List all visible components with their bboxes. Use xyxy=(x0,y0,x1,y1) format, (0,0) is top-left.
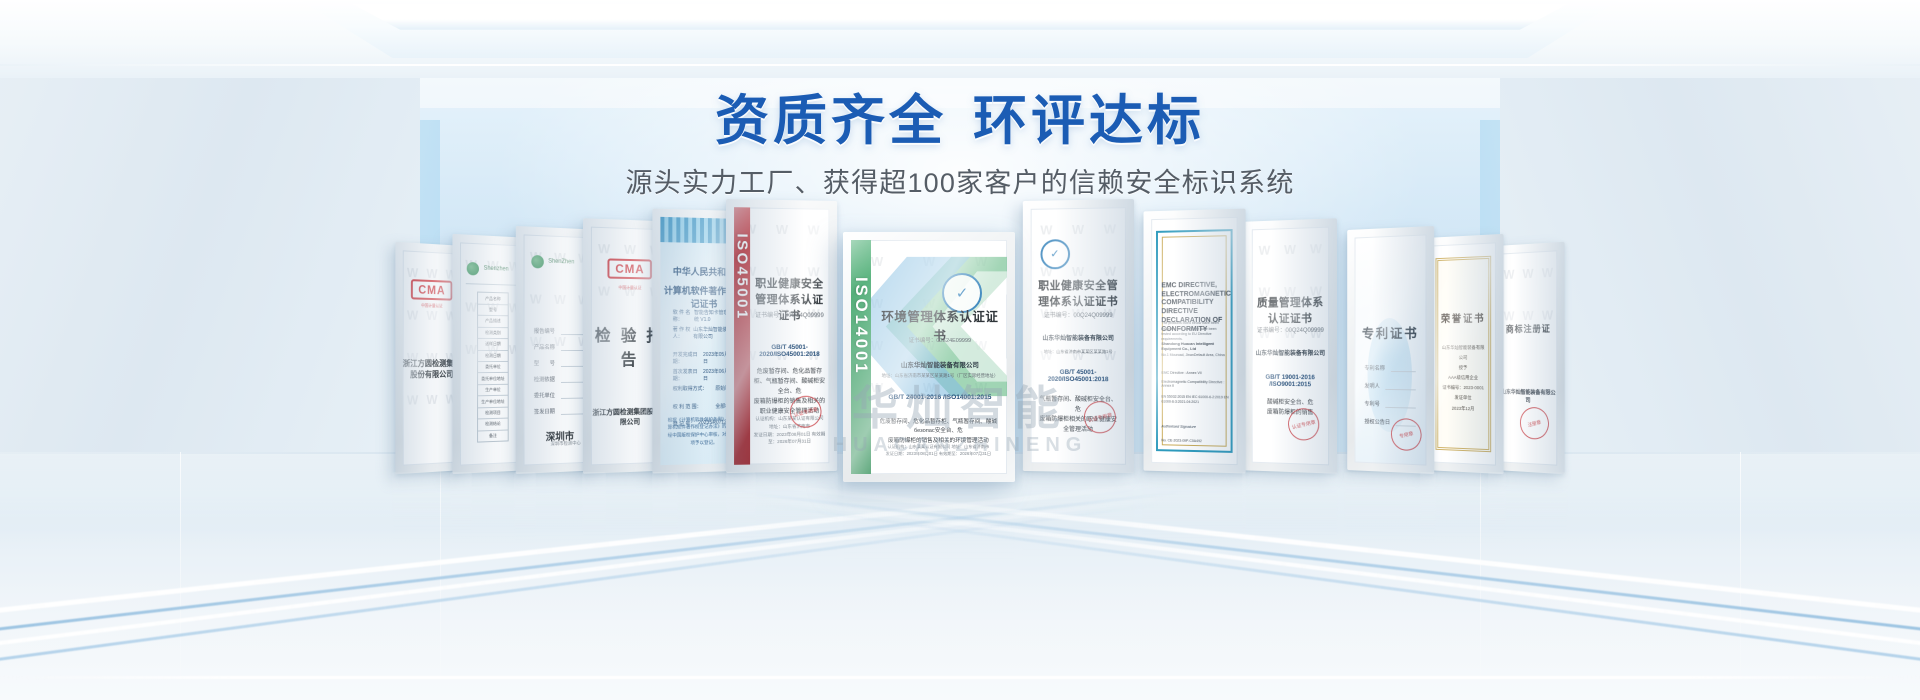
table-row: 产品名称 xyxy=(478,293,507,305)
ce-body-line-1: The products listed below have been insp… xyxy=(1161,321,1218,331)
field-label: 软 件 名 称： xyxy=(673,309,694,323)
honor-line-3: AAA级信用企业 xyxy=(1448,375,1478,380)
certificate-paper: WWWWWW 商标注册证 山东华灿智能装备有限公司 注册章 xyxy=(1500,250,1558,465)
certificate-title: 职业健康安全管理体系认证证书 xyxy=(1036,277,1120,309)
field-value xyxy=(561,375,586,383)
field-label: 型 号 xyxy=(534,359,555,367)
certificate-reflection xyxy=(1142,472,1246,566)
field-label: 专利号 xyxy=(1364,400,1379,408)
table-row: 型号 xyxy=(478,305,507,317)
field-label: 权 利 范 围： xyxy=(673,403,702,410)
ce-directive-1: EMC Directive : Annex VII xyxy=(1161,370,1228,374)
certificate-reflection xyxy=(726,472,838,570)
field-value xyxy=(561,406,586,415)
iso-standard-label: ISO45001 xyxy=(734,233,751,320)
certificate-frame[interactable]: WWWWWWWWWWWW ✓ ISO14001 环境管理体系认证证书 证书编号：… xyxy=(843,232,1015,482)
certificate-paper: WWWWWWWWWWWW ✓ 职业健康安全管理体系认证证书 证书编号：00Q24… xyxy=(1031,207,1126,465)
ce-signature: Authorised Signature xyxy=(1161,424,1196,429)
field-row: 发明人 xyxy=(1364,382,1416,391)
certificate-paper: WWWWWWWWWWWW ✓ ISO14001 环境管理体系认证证书 证书编号：… xyxy=(851,240,1007,474)
field-label: 首次发表日期： xyxy=(673,368,703,382)
certificate-frame[interactable]: EMC DIRECTIVE, ELECTROMAGNETIC COMPATIBI… xyxy=(1144,209,1246,474)
org-logo-icon xyxy=(467,262,479,276)
scope-line-1: 危废暂存间、危化品暂存柜、气瓶暂存间、酸碱柜安全台、危 xyxy=(754,369,825,396)
table-row: 送样日期 xyxy=(478,339,507,351)
footer-line-2: 发证日期：2023年08月01日 有效期至：2026年07月31日 xyxy=(886,451,991,456)
certificate-reflection xyxy=(1022,472,1134,570)
table-row: 检测日期 xyxy=(478,351,507,363)
field-row: 签发日期 xyxy=(534,406,586,415)
certificate-frame[interactable]: WWWWWWWWW 质量管理体系认证证书 证书编号：00Q24Q09999 山东… xyxy=(1244,218,1337,474)
certificate-address: 地址：山东省济南市某某区某某路1号 xyxy=(1036,349,1120,355)
honor-line-5: 发证单位 xyxy=(1454,395,1471,400)
certificate-side-band: ISO45001 xyxy=(734,207,750,465)
certification-seal-icon: ✓ xyxy=(1040,239,1070,269)
certificate-title: 荣誉证书 xyxy=(1431,309,1496,325)
certificate-paper: 荣誉证书 山东华灿智能装备有限公司 授予 AAA级信用企业 证书编号：2023-… xyxy=(1431,242,1496,465)
page-subtitle: 源头实力工厂、获得超100家客户的信赖安全标识系统 xyxy=(0,148,1920,197)
certificate-number: 证书编号：00E24E09999 xyxy=(879,336,1001,344)
honor-line-1: 山东华灿智能装备有限公司 xyxy=(1442,345,1485,360)
cma-badge: CMA xyxy=(607,258,652,279)
certificate-address: 地址：山东省济南市某某区某某路1号（厂区实际经营地址） xyxy=(879,373,1001,379)
certificate-frame[interactable]: WWWWWWWWWWWW ISO45001 职业健康安全管理体系认证证书 证书编… xyxy=(726,199,837,473)
field-label: 委托单位 xyxy=(534,391,555,399)
ce-directive-2: Electromagnetic Compatibility Directive … xyxy=(1161,380,1228,389)
certificate-frame[interactable]: WWWWWWWWWWWW ✓ 职业健康安全管理体系认证证书 证书编号：00Q24… xyxy=(1023,199,1134,473)
certificate-frame[interactable]: 专利证书 专利名称 发明人 专利号 授权公告日 专用章 xyxy=(1347,226,1434,474)
ce-standards: EN 55032:2015 EN IEC 61000-6-2:2019 EN 6… xyxy=(1161,395,1228,406)
inspection-table: 产品名称 型号 产品描述 检测类别 送样日期 检测日期 委托单位 委托单位地址 … xyxy=(477,292,508,443)
field-row: 产品名称 xyxy=(534,343,586,351)
field-label: 产品名称 xyxy=(534,343,555,351)
document-header: ShenZhen xyxy=(531,251,589,273)
ce-applicant: Shandong Huacan Intelligent Equipment Co… xyxy=(1161,341,1228,351)
field-row: 专利名称 xyxy=(1364,364,1416,372)
table-row: 检测项目 xyxy=(478,407,507,419)
footer-line-1: 认证机构：山东某某认证有限公司 地址：山东省济南市 xyxy=(888,444,990,449)
certificate-number: 证书编号：00Q24Q09999 xyxy=(1256,325,1324,334)
certificate-number: 证书编号：00Q24Q09999 xyxy=(753,310,825,319)
field-row: 型 号 xyxy=(534,359,586,367)
field-value xyxy=(561,327,586,335)
ce-address: No.1 Mouroad, JinanDefault Area, China xyxy=(1161,353,1228,357)
certificate-title: 质量管理体系认证证书 xyxy=(1256,294,1324,327)
scope-line-1: 酸碱柜安全台、危 xyxy=(1267,400,1313,407)
field-value xyxy=(561,391,586,399)
field-label: 报告编号 xyxy=(534,327,555,335)
table-row: 生产单位 xyxy=(478,385,507,397)
certificate-standard: GB/T 24001-2016 /ISO14001:2015 xyxy=(879,394,1001,401)
document-header: Shenzhen xyxy=(467,258,519,280)
field-label: 开发完成日期： xyxy=(673,351,703,365)
certificate-number: 证书编号：00Q24Q09999 xyxy=(1036,310,1120,319)
field-value xyxy=(561,343,586,351)
divider xyxy=(465,283,520,286)
certificate-reflection xyxy=(1488,472,1568,550)
certificate-paper: WWWWWWWWW 质量管理体系认证证书 证书编号：00Q24Q09999 山东… xyxy=(1252,227,1329,466)
table-row: 产品描述 xyxy=(478,316,507,328)
table-row: 委托单位地址 xyxy=(478,373,507,385)
title-part-1: 资质齐全 xyxy=(715,91,947,151)
field-row: 检测依据 xyxy=(534,375,586,384)
certificate-company: 山东华灿智能装备有限公司 xyxy=(1252,348,1329,357)
field-value xyxy=(1385,382,1416,390)
honor-line-6: 2023年12月 xyxy=(1452,405,1475,411)
title-part-2: 环评达标 xyxy=(973,91,1205,151)
field-label: 专利名称 xyxy=(1364,364,1385,372)
certificate-standard: GB/T 45001-2020/ISO45001:2018 xyxy=(1036,369,1120,383)
certificate-scope: 危废暂存间、危化品暂存柜、气瓶暂存间、酸碱безопас安全台、危 废箱防爆柜的… xyxy=(876,418,1001,447)
footer-line-2: 发证日期：2023年08月01日 有效期至：2026年07月31日 xyxy=(754,431,826,445)
field-label: 授权公告日 xyxy=(1364,418,1390,427)
field-value xyxy=(1385,400,1416,409)
certificate-paper: WWWWWWWWWWWW ISO45001 职业健康安全管理体系认证证书 证书编… xyxy=(734,207,829,465)
certificate-side-band: ISO14001 xyxy=(851,240,871,474)
certificate-standard: GB/T 19001-2016 /ISO9001:2015 xyxy=(1256,374,1324,389)
official-stamp: 注册章 xyxy=(1517,404,1552,442)
org-logo-label: ShenZhen xyxy=(548,259,574,266)
ce-title-line-1: EMC DIRECTIVE, xyxy=(1161,282,1217,290)
org-logo-icon xyxy=(531,255,544,269)
certificate-reflection xyxy=(843,480,1015,572)
honor-line-2: 授予 xyxy=(1459,365,1468,370)
iso-standard-label: ISO14001 xyxy=(851,277,871,375)
field-label: 权利取得方式： xyxy=(673,385,708,392)
ce-title-line-2: ELECTROMAGNETIC COMPATIBILITY DIRECTIVE xyxy=(1161,290,1231,315)
certificate-standard: GB/T 45001-2020/ISO45001:2018 xyxy=(753,344,825,358)
certificate-frame[interactable]: 荣誉证书 山东华灿智能装备有限公司 授予 AAA级信用企业 证书编号：2023-… xyxy=(1424,234,1504,474)
certificate-title: 商标注册证 xyxy=(1500,321,1558,335)
headline-block: 资质齐全环评达标 源头实力工厂、获得超100家客户的信赖安全标识系统 xyxy=(0,0,1920,197)
field-label: 检测依据 xyxy=(534,375,555,383)
honor-line-4: 证书编号：2023-0001 xyxy=(1442,385,1484,391)
org-logo-label: Shenzhen xyxy=(484,266,509,273)
certificate-body: 山东华灿智能装备有限公司 授予 AAA级信用企业 证书编号：2023-0001 … xyxy=(1441,343,1485,414)
certificate-paper: EMC DIRECTIVE, ELECTROMAGNETIC COMPATIBI… xyxy=(1151,217,1237,465)
field-row: 委托单位 xyxy=(534,391,586,400)
field-label: 著 作 权 人： xyxy=(673,326,694,340)
cma-badge: CMA xyxy=(411,279,453,301)
field-label: 发明人 xyxy=(1364,382,1379,390)
table-row: 委托单位 xyxy=(478,362,507,374)
table-row: 生产单位地址 xyxy=(478,396,507,408)
certificate-footer: 认证机构：山东某某认证有限公司 地址：山东省济南市 发证日期：2023年08月0… xyxy=(876,443,1001,457)
certificate-company: 山东华灿智能装备有限公司 xyxy=(879,359,1001,369)
table-row: 检测类别 xyxy=(478,328,507,340)
page-title: 资质齐全环评达标 xyxy=(0,0,1920,148)
field-row: 专利号 xyxy=(1364,400,1416,409)
certificate-company: 山东华灿智能装备有限公司 xyxy=(1031,333,1126,342)
certificate-reflection xyxy=(1242,472,1338,562)
field-value xyxy=(1391,364,1417,372)
field-value xyxy=(561,359,586,367)
field-label: 签发日期 xyxy=(534,407,555,416)
certificate-paper: 专利证书 专利名称 发明人 专利号 授权公告日 专用章 xyxy=(1355,234,1427,465)
certificate-company: 山东华灿智能装备有限公司 xyxy=(1500,387,1558,404)
field-row: 报告编号 xyxy=(534,327,586,335)
table-row: 备注 xyxy=(478,430,507,442)
banner-stage: 资质齐全环评达标 源头实力工厂、获得超100家客户的信赖安全标识系统 WWWWW… xyxy=(0,0,1920,700)
scope-line-1: 危废暂存间、危化品暂存柜、气瓶暂存间、酸碱безопас安全台、危 xyxy=(880,419,997,435)
certificate-title: 专利证书 xyxy=(1355,322,1427,341)
ce-body: The products listed below have been insp… xyxy=(1161,321,1228,343)
